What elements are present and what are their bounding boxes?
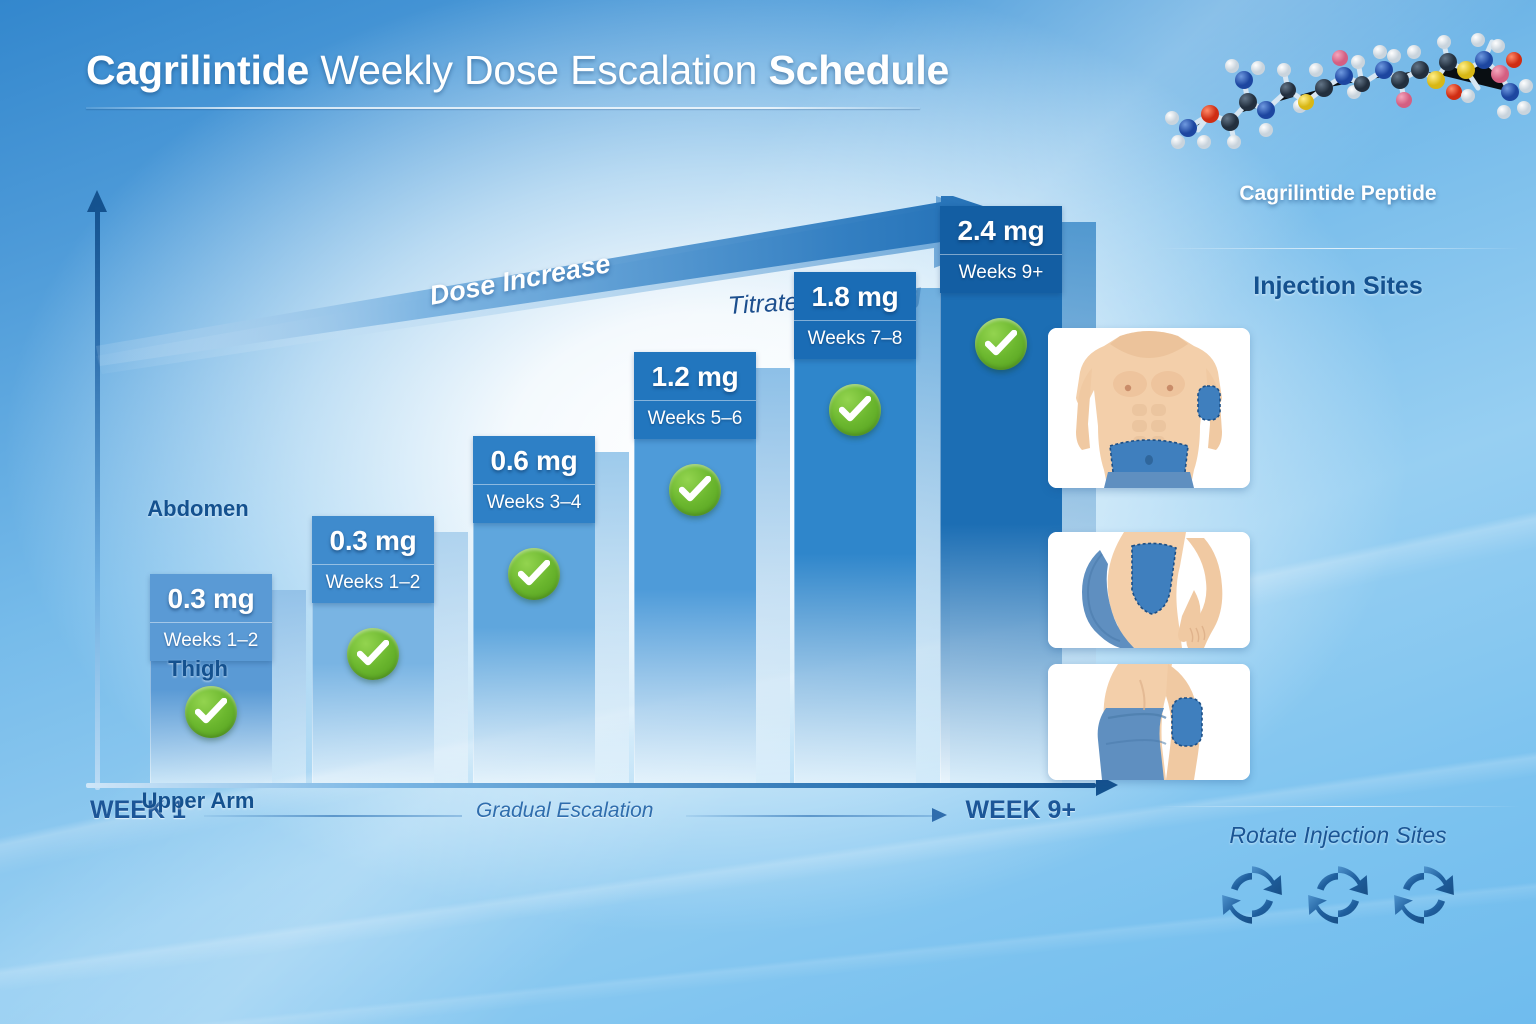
injection-site-label-thigh: Thigh bbox=[0, 656, 396, 682]
panel-divider-bottom bbox=[1156, 806, 1520, 807]
checkmark-icon bbox=[975, 318, 1027, 370]
injection-site-card-abdomen[interactable] bbox=[1048, 328, 1250, 488]
torso-illustration bbox=[1048, 328, 1250, 488]
rotate-icons-group bbox=[1140, 860, 1536, 930]
bar-label-box: 0.3 mgWeeks 1–2 bbox=[150, 574, 272, 661]
checkmark-icon bbox=[185, 686, 237, 738]
bar-dose-value: 0.3 mg bbox=[150, 574, 272, 622]
bar-3[interactable]: 0.6 mgWeeks 3–4 bbox=[473, 436, 595, 784]
bar-dose-value: 1.2 mg bbox=[634, 352, 756, 400]
axis-connector-left bbox=[204, 815, 462, 817]
bar-label-box: 1.8 mgWeeks 7–8 bbox=[794, 272, 916, 359]
bar-weeks-label: Weeks 7–8 bbox=[794, 321, 916, 359]
bar-weeks-label: Weeks 5–6 bbox=[634, 401, 756, 439]
injection-site-card-thigh[interactable] bbox=[1048, 532, 1250, 648]
checkmark-icon bbox=[669, 464, 721, 516]
bar-side-face bbox=[756, 368, 790, 784]
bar-6[interactable]: 2.4 mgWeeks 9+ bbox=[940, 206, 1062, 784]
rotate-arrows-icon bbox=[1388, 864, 1460, 926]
bar-dose-value: 2.4 mg bbox=[940, 206, 1062, 254]
injection-sites-title: Injection Sites bbox=[1140, 272, 1536, 301]
panel-divider-top bbox=[1156, 248, 1520, 249]
rotate-arrows-icon bbox=[1216, 864, 1288, 926]
bar-dose-value: 1.8 mg bbox=[794, 272, 916, 320]
bar-side-face bbox=[595, 452, 629, 784]
bar-label-box: 1.2 mgWeeks 5–6 bbox=[634, 352, 756, 439]
bar-weeks-label: Weeks 3–4 bbox=[473, 485, 595, 523]
molecule-caption: Cagrilintide Peptide bbox=[1140, 182, 1536, 206]
peptide-molecule-icon bbox=[1148, 18, 1536, 180]
checkmark-icon bbox=[508, 548, 560, 600]
bar-dose-value: 0.3 mg bbox=[312, 516, 434, 564]
injection-site-card-upper-arm[interactable] bbox=[1048, 664, 1250, 780]
axis-label-end: WEEK 9+ bbox=[966, 796, 1076, 825]
bar-2[interactable]: 0.3 mgWeeks 1–2 bbox=[312, 516, 434, 784]
right-panel: Cagrilintide Peptide Injection Sites Rot… bbox=[1140, 0, 1536, 1024]
injection-site-label-upper-arm: Upper Arm bbox=[0, 788, 396, 814]
bar-label-box: 2.4 mgWeeks 9+ bbox=[940, 206, 1062, 293]
bar-side-face bbox=[434, 532, 468, 784]
bar-label-box: 0.6 mgWeeks 3–4 bbox=[473, 436, 595, 523]
hip-thigh-illustration bbox=[1048, 532, 1250, 648]
axis-label-middle: Gradual Escalation bbox=[476, 799, 653, 823]
axis-connector-right bbox=[686, 815, 934, 817]
bar-4[interactable]: 1.2 mgWeeks 5–6 bbox=[634, 352, 756, 784]
bar-dose-value: 0.6 mg bbox=[473, 436, 595, 484]
bar-weeks-label: Weeks 9+ bbox=[940, 255, 1062, 293]
rotate-arrows-icon bbox=[1302, 864, 1374, 926]
axis-connector-arrowhead bbox=[932, 808, 947, 822]
checkmark-icon bbox=[829, 384, 881, 436]
bar-5[interactable]: 1.8 mgWeeks 7–8 bbox=[794, 272, 916, 784]
injection-site-label-abdomen: Abdomen bbox=[0, 496, 396, 522]
upper-arm-illustration bbox=[1048, 664, 1250, 780]
bar-side-face bbox=[272, 590, 306, 784]
rotate-sites-title: Rotate Injection Sites bbox=[1140, 822, 1536, 849]
dose-increase-label: Dose Increase bbox=[427, 248, 613, 312]
y-axis-arrow bbox=[92, 190, 102, 790]
bar-label-box: 0.3 mgWeeks 1–2 bbox=[312, 516, 434, 603]
bar-weeks-label: Weeks 1–2 bbox=[312, 565, 434, 603]
